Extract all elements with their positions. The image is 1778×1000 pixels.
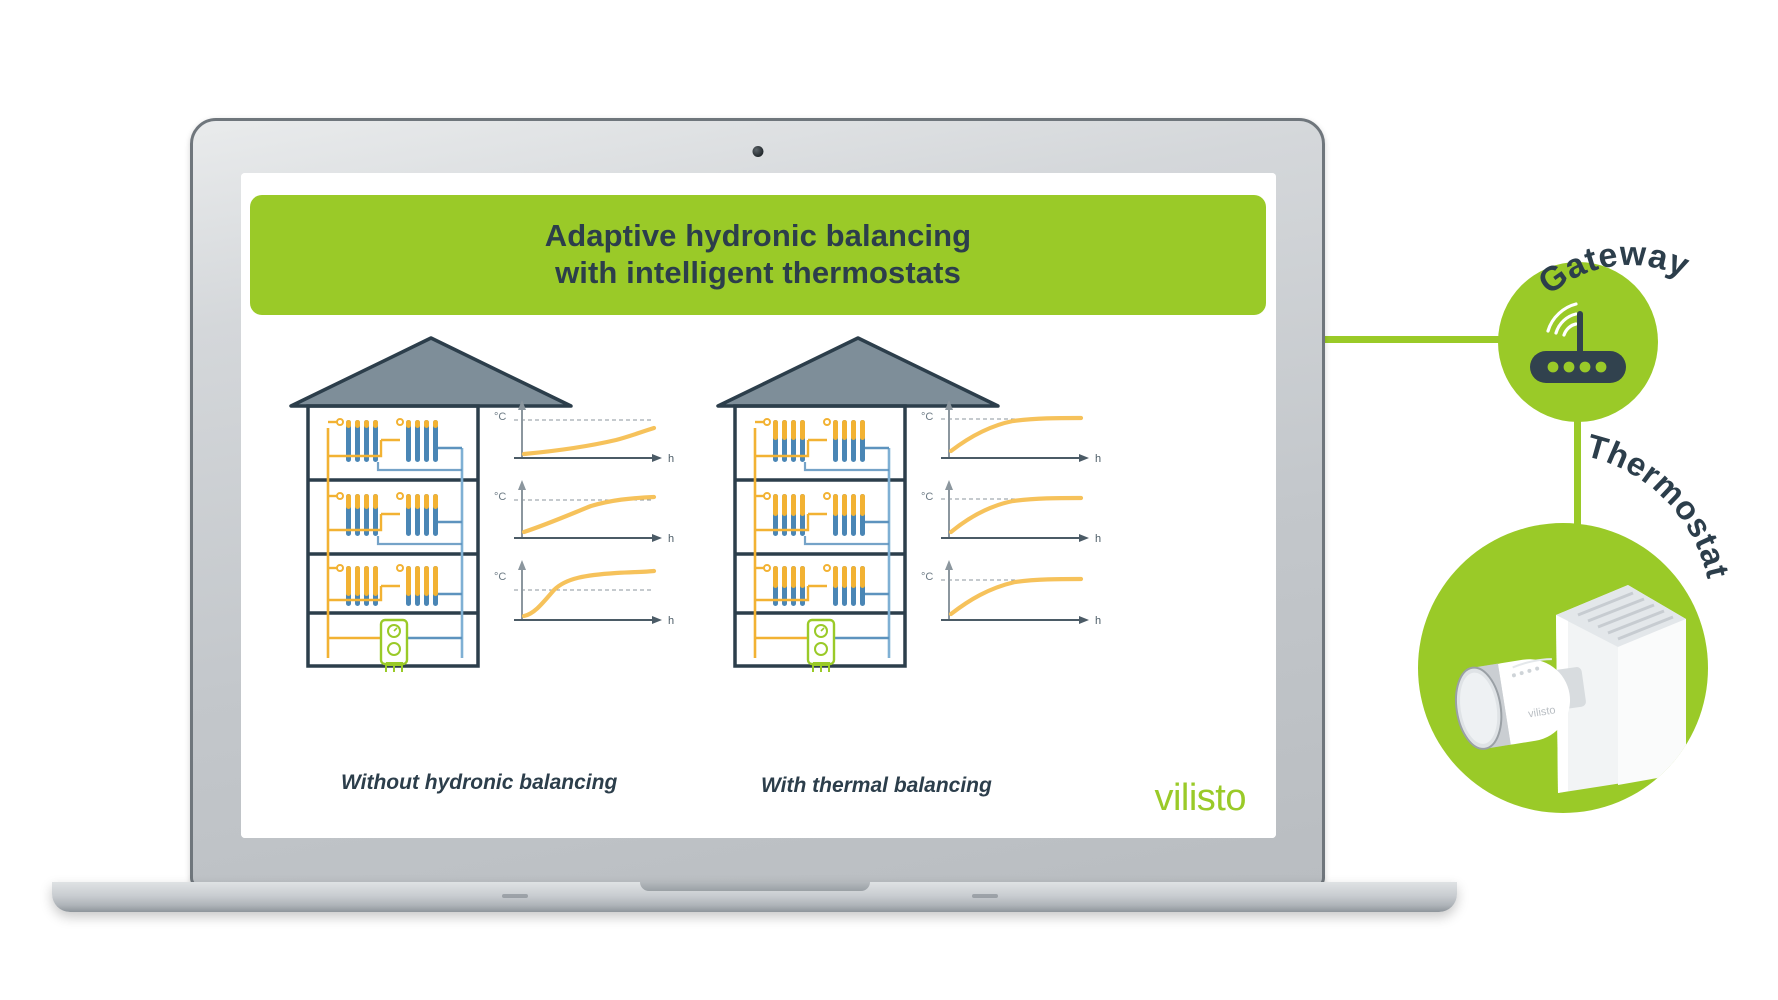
laptop-screen: Adaptive hydronic balancing with intelli…: [241, 173, 1276, 838]
caption-without-balancing: Without hydronic balancing: [341, 771, 617, 795]
svg-text:°C: °C: [921, 491, 933, 503]
chart-unbalanced-middle: °C h: [494, 480, 674, 545]
chart-balanced-middle: °C h: [921, 480, 1101, 545]
svg-text:°C: °C: [921, 571, 933, 583]
svg-text:°C: °C: [494, 571, 506, 583]
base-vent-right: [972, 894, 998, 898]
thermostat-badge[interactable]: vilisto: [1418, 523, 1708, 813]
panel-without-balancing: °C h °C: [286, 328, 766, 748]
caption-with-balancing: With thermal balancing: [761, 774, 992, 798]
svg-text:h: h: [1095, 453, 1101, 465]
floor-radiators-middle: [755, 493, 889, 544]
vilisto-logo: vilisto: [1154, 777, 1246, 820]
presentation-slide: Adaptive hydronic balancing with intelli…: [241, 173, 1276, 838]
chart-unbalanced-bottom: °C h: [494, 560, 674, 627]
floor-radiators-top: [755, 419, 889, 470]
boiler-icon: [328, 620, 462, 672]
gateway-badge[interactable]: [1498, 262, 1658, 422]
page-title: Adaptive hydronic balancing with intelli…: [545, 218, 971, 291]
boiler-icon: [755, 620, 889, 672]
slide-title-banner: Adaptive hydronic balancing with intelli…: [250, 195, 1266, 315]
diagram-balanced: °C h °C: [713, 328, 1193, 748]
comparison-panels: °C h °C: [241, 328, 1276, 748]
svg-text:h: h: [668, 533, 674, 545]
title-line-2: with intelligent thermostats: [545, 255, 971, 292]
svg-text:h: h: [1095, 615, 1101, 627]
router-icon: [1518, 287, 1638, 397]
svg-text:h: h: [1095, 533, 1101, 545]
laptop-base: [52, 882, 1457, 912]
floor-radiators-middle: [328, 493, 462, 544]
title-line-1: Adaptive hydronic balancing: [545, 218, 971, 255]
floor-radiators-top: [328, 419, 462, 470]
svg-text:h: h: [668, 615, 674, 627]
panel-with-balancing: °C h °C: [713, 328, 1193, 748]
chart-unbalanced-top: °C h: [494, 400, 674, 465]
floor-radiators-bottom: [755, 565, 889, 606]
base-vent-left: [502, 894, 528, 898]
radiator-valve-icon: vilisto: [1418, 523, 1708, 813]
svg-text:h: h: [668, 453, 674, 465]
svg-text:°C: °C: [494, 411, 506, 423]
diagram-unbalanced: °C h °C: [286, 328, 766, 748]
svg-text:°C: °C: [494, 491, 506, 503]
floor-radiators-bottom: [328, 565, 462, 606]
chart-balanced-bottom: °C h: [921, 560, 1101, 627]
chart-balanced-top: °C h: [921, 400, 1101, 465]
svg-text:°C: °C: [921, 411, 933, 423]
illustration-root: Adaptive hydronic balancing with intelli…: [0, 0, 1778, 1000]
connector-laptop-gateway: [1325, 336, 1505, 343]
webcam-icon: [752, 146, 763, 157]
laptop-frame: Adaptive hydronic balancing with intelli…: [190, 118, 1325, 888]
